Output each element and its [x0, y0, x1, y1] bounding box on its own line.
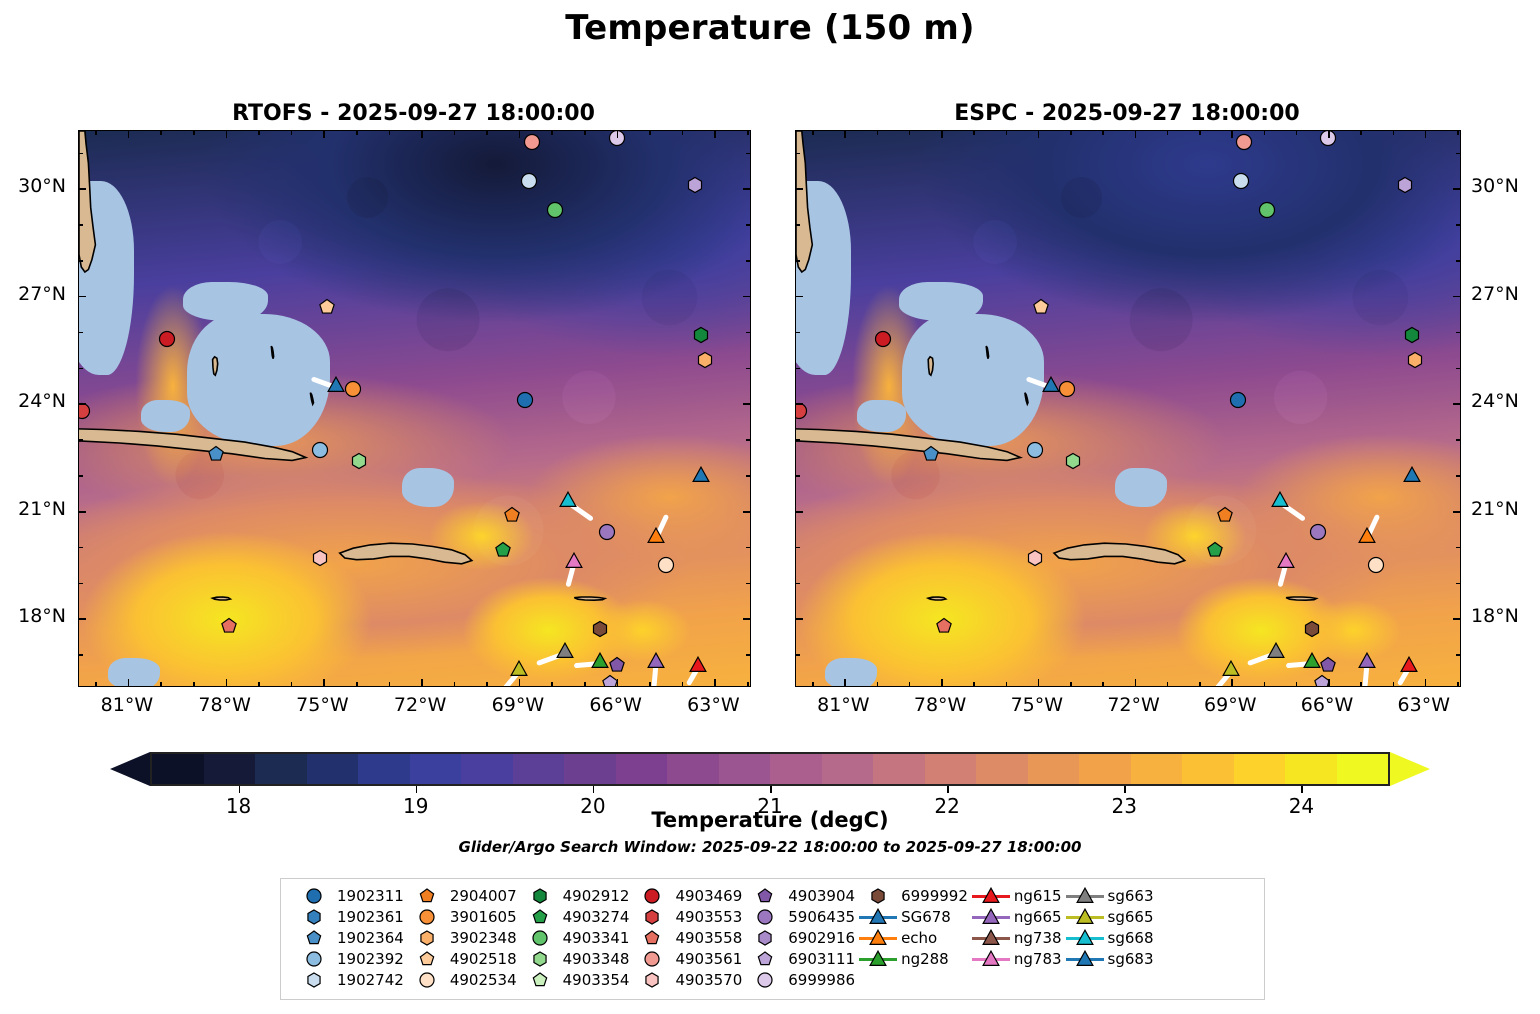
- lat-tick: [796, 511, 803, 513]
- map-marker-4902534[interactable]: [656, 555, 675, 574]
- map-marker-ng615[interactable]: [1399, 656, 1418, 675]
- lat-minor-tick: [796, 583, 800, 585]
- map-marker-4903341[interactable]: [545, 200, 564, 219]
- legend-label: 6999986: [788, 971, 855, 989]
- legend-label: 4902912: [563, 887, 630, 905]
- map-marker-sg663[interactable]: [1267, 641, 1286, 660]
- map-marker-sg663[interactable]: [555, 641, 574, 660]
- lat-tick-label: 27°N: [0, 283, 66, 305]
- lon-minor-tick: [1167, 682, 1169, 686]
- lat-minor-tick: [79, 475, 83, 477]
- map-marker-echo[interactable]: [646, 527, 665, 546]
- lat-tick: [79, 296, 86, 298]
- lat-minor-tick: [796, 332, 800, 334]
- map-marker-6999992[interactable]: [591, 620, 610, 639]
- lon-tick: [226, 679, 228, 686]
- lat-tick: [79, 188, 86, 190]
- lat-tick: [743, 296, 750, 298]
- legend-label: ng665: [1014, 908, 1062, 926]
- lon-minor-tick: [291, 682, 293, 686]
- legend-item-5906435[interactable]: 5906435: [742, 907, 855, 927]
- map-marker-4903558[interactable]: [219, 616, 238, 635]
- lon-tick-label: 72°W: [1089, 694, 1179, 716]
- legend-label: 4903570: [675, 971, 742, 989]
- map-marker-4903904b[interactable]: [607, 656, 626, 675]
- legend-item-4903561[interactable]: 4903561: [629, 949, 742, 969]
- lat-tick: [743, 511, 750, 513]
- lon-minor-tick: [1006, 131, 1008, 135]
- lat-minor-tick: [746, 475, 750, 477]
- legend-item-4903558[interactable]: 4903558: [629, 928, 742, 948]
- legend-item-sg663[interactable]: sg663: [1062, 886, 1154, 906]
- map-marker-1902392[interactable]: [1025, 441, 1044, 460]
- map-marker-1902742[interactable]: [1231, 172, 1250, 191]
- colorbar-label: Temperature (degC): [0, 808, 1540, 832]
- landmass-puerto-rico: [1286, 597, 1316, 600]
- lat-tick: [796, 618, 803, 620]
- map-marker-3902348[interactable]: [1406, 351, 1425, 370]
- lat-minor-tick: [79, 332, 83, 334]
- landmass-eleuthera: [271, 346, 273, 359]
- map-marker-echo[interactable]: [1357, 527, 1376, 546]
- legend-marker-icon: [742, 886, 788, 906]
- lat-minor-tick: [746, 332, 750, 334]
- legend-label: sg668: [1108, 929, 1154, 947]
- lon-tick: [1038, 679, 1040, 686]
- map-marker-4903469[interactable]: [157, 329, 176, 348]
- legend-marker-icon: [742, 970, 788, 990]
- legend: 1902311190236119023641902392190274229040…: [280, 878, 1265, 1000]
- map-marker-sg683[interactable]: [1402, 466, 1421, 485]
- map-marker-4903348[interactable]: [1064, 451, 1083, 470]
- legend-column: 19023111902361190236419023921902742: [291, 886, 404, 990]
- panel-title-espc: ESPC - 2025-09-27 18:00:00: [795, 101, 1459, 126]
- map-marker-4903558[interactable]: [935, 616, 954, 635]
- lon-minor-tick: [454, 131, 456, 135]
- legend-column: 49039045906435690291669031116999986: [742, 886, 855, 990]
- map-panel-espc[interactable]: [795, 130, 1461, 687]
- lat-minor-tick: [746, 654, 750, 656]
- legend-item-4902518[interactable]: 4902518: [404, 949, 517, 969]
- lon-minor-tick: [584, 682, 586, 686]
- map-marker-2904007[interactable]: [503, 505, 522, 524]
- legend-label: sg663: [1108, 887, 1154, 905]
- lon-minor-tick: [1457, 682, 1459, 686]
- map-marker-ng665[interactable]: [1357, 652, 1376, 671]
- legend-marker-icon: [291, 886, 337, 906]
- lon-tick: [1425, 131, 1427, 138]
- map-marker-1902311[interactable]: [516, 390, 535, 409]
- legend-marker-icon: [629, 907, 675, 927]
- legend-item-sg668[interactable]: sg668: [1062, 928, 1154, 948]
- legend-item-ng738[interactable]: ng738: [968, 928, 1062, 948]
- lon-minor-tick: [95, 131, 97, 135]
- legend-marker-icon: [1062, 949, 1108, 969]
- lat-tick-label: 30°N: [0, 175, 66, 197]
- search-window-caption: Glider/Argo Search Window: 2025-09-22 18…: [0, 838, 1540, 856]
- colorbar-gradient: [150, 752, 1390, 786]
- lon-tick: [1038, 131, 1040, 138]
- lat-minor-tick: [796, 547, 800, 549]
- legend-label: 1902392: [337, 950, 404, 968]
- lon-minor-tick: [649, 131, 651, 135]
- map-marker-ng615[interactable]: [689, 656, 708, 675]
- map-marker-1902742[interactable]: [519, 172, 538, 191]
- colorbar-tick: [593, 786, 595, 793]
- coastlines: [796, 131, 1457, 683]
- legend-marker-icon: [742, 928, 788, 948]
- legend-label: 4903341: [563, 929, 630, 947]
- colorbar-min-arrow: [110, 752, 150, 786]
- lon-tick: [1231, 131, 1233, 138]
- lat-minor-tick: [79, 654, 83, 656]
- lon-minor-tick: [682, 131, 684, 135]
- legend-label: 4903469: [675, 887, 742, 905]
- legend-item-1902364[interactable]: 1902364: [291, 928, 404, 948]
- map-marker-2904007[interactable]: [1215, 505, 1234, 524]
- map-marker-1902392[interactable]: [311, 441, 330, 460]
- legend-item-ng288[interactable]: ng288: [855, 949, 968, 969]
- lon-minor-tick: [1102, 682, 1104, 686]
- map-marker-4902534[interactable]: [1367, 555, 1386, 574]
- lon-minor-tick: [160, 682, 162, 686]
- lat-tick: [796, 188, 803, 190]
- legend-item-4903570[interactable]: 4903570: [629, 970, 742, 990]
- legend-label: 6999992: [901, 887, 968, 905]
- legend-item-4903553[interactable]: 4903553: [629, 907, 742, 927]
- legend-marker-icon: [291, 928, 337, 948]
- landmass-cuba: [79, 429, 306, 461]
- lon-tick-label: 69°W: [473, 694, 563, 716]
- map-marker-sg665[interactable]: [509, 659, 528, 678]
- legend-item-1902361[interactable]: 1902361: [291, 907, 404, 927]
- lat-minor-tick: [1456, 439, 1460, 441]
- lon-minor-tick: [551, 682, 553, 686]
- map-marker-4903904b[interactable]: [1319, 656, 1338, 675]
- lon-tick: [519, 131, 521, 138]
- legend-marker-icon: [742, 949, 788, 969]
- lon-tick: [617, 131, 619, 138]
- lon-minor-tick: [1199, 131, 1201, 135]
- legend-item-4902912[interactable]: 4902912: [517, 886, 630, 906]
- legend-label: ng738: [1014, 929, 1062, 947]
- lon-minor-tick: [973, 131, 975, 135]
- map-marker-4903561[interactable]: [1235, 132, 1254, 151]
- lat-tick: [743, 403, 750, 405]
- landmass-hispaniola: [340, 543, 472, 564]
- legend-item-1902392[interactable]: 1902392: [291, 949, 404, 969]
- legend-label: 4903904: [788, 887, 855, 905]
- legend-column: 49034694903553490355849035614903570: [629, 886, 742, 990]
- lat-minor-tick: [79, 153, 83, 155]
- lon-tick: [1328, 131, 1330, 138]
- legend-marker-icon: [517, 970, 563, 990]
- lat-minor-tick: [79, 368, 83, 370]
- legend-item-4903341[interactable]: 4903341: [517, 928, 630, 948]
- landmass-andros: [928, 357, 933, 375]
- legend-column: 49029124903274490334149033484903354: [517, 886, 630, 990]
- lon-minor-tick: [1006, 682, 1008, 686]
- map-marker-4903274[interactable]: [1206, 541, 1225, 560]
- legend-marker-icon: [855, 949, 901, 969]
- lat-minor-tick: [1456, 332, 1460, 334]
- lat-minor-tick: [1456, 153, 1460, 155]
- colorbar: 18192021222324: [110, 752, 1430, 786]
- legend-label: 4902518: [450, 950, 517, 968]
- legend-item-ng665[interactable]: ng665: [968, 907, 1062, 927]
- landmass-hispaniola: [1054, 543, 1185, 564]
- lon-minor-tick: [1070, 131, 1072, 135]
- lat-minor-tick: [1456, 260, 1460, 262]
- lat-tick-label: 24°N: [1471, 390, 1519, 412]
- lat-tick: [1453, 296, 1460, 298]
- legend-item-echo[interactable]: echo: [855, 928, 968, 948]
- lon-minor-tick: [389, 682, 391, 686]
- legend-item-sg683[interactable]: sg683: [1062, 949, 1154, 969]
- lon-tick: [714, 131, 716, 138]
- lat-minor-tick: [746, 224, 750, 226]
- colorbar-tick: [947, 786, 949, 793]
- lon-tick: [1231, 679, 1233, 686]
- panel-title-rtofs: RTOFS - 2025-09-27 18:00:00: [78, 101, 749, 126]
- lon-tick: [1425, 679, 1427, 686]
- map-marker-4903570[interactable]: [1025, 548, 1044, 567]
- map-marker-4903274[interactable]: [493, 541, 512, 560]
- legend-label: 6902916: [788, 929, 855, 947]
- lat-minor-tick: [746, 583, 750, 585]
- legend-label: ng615: [1014, 887, 1062, 905]
- legend-marker-icon: [629, 949, 675, 969]
- lon-tick: [1328, 679, 1330, 686]
- lat-tick: [79, 511, 86, 513]
- legend-marker-icon: [855, 886, 901, 906]
- lon-minor-tick: [1070, 682, 1072, 686]
- lat-minor-tick: [79, 583, 83, 585]
- map-marker-3902348[interactable]: [695, 351, 714, 370]
- colorbar-tick: [770, 786, 772, 793]
- legend-item-6902916[interactable]: 6902916: [742, 928, 855, 948]
- lon-minor-tick: [1264, 682, 1266, 686]
- lon-minor-tick: [193, 131, 195, 135]
- map-marker-sg668[interactable]: [558, 491, 577, 510]
- map-marker-6999992[interactable]: [1302, 620, 1321, 639]
- legend-item-6903111[interactable]: 6903111: [742, 949, 855, 969]
- legend-marker-icon: [517, 886, 563, 906]
- lon-tick: [941, 679, 943, 686]
- map-marker-4903469[interactable]: [874, 329, 893, 348]
- landmass-andros: [213, 357, 218, 375]
- lat-minor-tick: [1456, 547, 1460, 549]
- legend-item-ng783[interactable]: ng783: [968, 949, 1062, 969]
- lon-tick-label: 69°W: [1185, 694, 1275, 716]
- legend-marker-icon: [291, 970, 337, 990]
- legend-label: 4902534: [450, 971, 517, 989]
- lon-tick: [519, 679, 521, 686]
- legend-column: 29040073901605390234849025184902534: [404, 886, 517, 990]
- map-marker-4902518[interactable]: [1032, 297, 1051, 316]
- legend-marker-icon: [629, 886, 675, 906]
- lon-minor-tick: [584, 131, 586, 135]
- map-marker-4903561[interactable]: [522, 132, 541, 151]
- legend-label: ng288: [901, 950, 949, 968]
- legend-marker-icon: [968, 886, 1014, 906]
- landmass-long-island: [1025, 393, 1028, 405]
- lon-tick-label: 72°W: [375, 694, 465, 716]
- map-marker-ng665[interactable]: [646, 652, 665, 671]
- lon-minor-tick: [1167, 131, 1169, 135]
- legend-item-2904007[interactable]: 2904007: [404, 886, 517, 906]
- lon-minor-tick: [193, 682, 195, 686]
- lat-tick-label: 21°N: [1471, 498, 1519, 520]
- lat-minor-tick: [1456, 475, 1460, 477]
- legend-label: sg665: [1108, 908, 1154, 926]
- lat-tick: [1453, 188, 1460, 190]
- map-marker-3901605[interactable]: [1057, 380, 1076, 399]
- lon-tick: [941, 131, 943, 138]
- lat-tick-label: 27°N: [1471, 283, 1519, 305]
- lat-minor-tick: [796, 475, 800, 477]
- legend-marker-icon: [404, 928, 450, 948]
- lat-tick-label: 21°N: [0, 498, 66, 520]
- map-marker-4903348[interactable]: [350, 451, 369, 470]
- lon-minor-tick: [356, 131, 358, 135]
- legend-item-6999986[interactable]: 6999986: [742, 970, 855, 990]
- colorbar-max-arrow: [1390, 752, 1430, 786]
- legend-label: sg683: [1108, 950, 1154, 968]
- lon-minor-tick: [160, 131, 162, 135]
- map-marker-1902364[interactable]: [206, 444, 225, 463]
- map-marker-4902912[interactable]: [1402, 326, 1421, 345]
- map-marker-4903341[interactable]: [1257, 200, 1276, 219]
- legend-item-1902742[interactable]: 1902742: [291, 970, 404, 990]
- legend-item-4903354[interactable]: 4903354: [517, 970, 630, 990]
- landmass-jamaica: [213, 597, 231, 600]
- lat-minor-tick: [1456, 224, 1460, 226]
- map-marker-sg668[interactable]: [1270, 491, 1289, 510]
- legend-marker-icon: [968, 928, 1014, 948]
- legend-item-6999992[interactable]: 6999992: [855, 886, 968, 906]
- lat-minor-tick: [746, 260, 750, 262]
- legend-item-4903348[interactable]: 4903348: [517, 949, 630, 969]
- map-marker-4903904[interactable]: [1396, 175, 1415, 194]
- map-marker-4902518[interactable]: [317, 297, 336, 316]
- legend-item-SG678[interactable]: SG678: [855, 907, 968, 927]
- map-marker-sg683[interactable]: [692, 466, 711, 485]
- lat-minor-tick: [746, 439, 750, 441]
- lon-minor-tick: [1102, 131, 1104, 135]
- lon-minor-tick: [877, 131, 879, 135]
- map-marker-1902364[interactable]: [922, 444, 941, 463]
- lon-tick: [617, 679, 619, 686]
- map-marker-3901605[interactable]: [343, 380, 362, 399]
- lon-tick: [421, 131, 423, 138]
- legend-item-ng615[interactable]: ng615: [968, 886, 1062, 906]
- lon-minor-tick: [551, 131, 553, 135]
- lon-tick: [323, 131, 325, 138]
- legend-marker-icon: [968, 907, 1014, 927]
- lon-tick-label: 75°W: [992, 694, 1082, 716]
- legend-item-4902534[interactable]: 4902534: [404, 970, 517, 990]
- map-marker-ng783[interactable]: [565, 552, 584, 571]
- map-marker-5906435[interactable]: [1309, 523, 1328, 542]
- legend-marker-icon: [404, 949, 450, 969]
- legend-item-sg665[interactable]: sg665: [1062, 907, 1154, 927]
- lon-minor-tick: [1393, 131, 1395, 135]
- landmass-eleuthera: [986, 346, 988, 359]
- map-marker-4903904[interactable]: [685, 175, 704, 194]
- map-marker-sg665[interactable]: [1222, 659, 1241, 678]
- lat-tick-label: 30°N: [1471, 175, 1519, 197]
- lon-tick: [421, 679, 423, 686]
- map-marker-1902311[interactable]: [1228, 390, 1247, 409]
- legend-item-3901605[interactable]: 3901605: [404, 907, 517, 927]
- lon-minor-tick: [747, 131, 749, 135]
- map-marker-5906435[interactable]: [597, 523, 616, 542]
- lon-tick-label: 63°W: [1379, 694, 1469, 716]
- lat-tick: [1453, 618, 1460, 620]
- lat-tick: [796, 403, 803, 405]
- lon-minor-tick: [486, 682, 488, 686]
- legend-column: sg663sg665sg668sg683: [1062, 886, 1154, 990]
- legend-marker-icon: [404, 970, 450, 990]
- lon-minor-tick: [258, 131, 260, 135]
- lon-tick-label: 63°W: [668, 694, 758, 716]
- legend-marker-icon: [1062, 907, 1108, 927]
- legend-item-4903274[interactable]: 4903274: [517, 907, 630, 927]
- legend-item-4903469[interactable]: 4903469: [629, 886, 742, 906]
- lat-minor-tick: [746, 368, 750, 370]
- lat-tick: [1453, 403, 1460, 405]
- lon-minor-tick: [1360, 131, 1362, 135]
- legend-item-4903904[interactable]: 4903904: [742, 886, 855, 906]
- lat-minor-tick: [796, 654, 800, 656]
- legend-marker-icon: [1062, 928, 1108, 948]
- legend-label: echo: [901, 929, 937, 947]
- lon-minor-tick: [291, 131, 293, 135]
- lat-tick-label: 18°N: [1471, 605, 1519, 627]
- legend-column: 6999992SG678echong288: [855, 886, 968, 990]
- lat-minor-tick: [796, 224, 800, 226]
- lon-minor-tick: [812, 131, 814, 135]
- legend-item-1902311[interactable]: 1902311: [291, 886, 404, 906]
- map-marker-4902912[interactable]: [692, 326, 711, 345]
- map-marker-4903570[interactable]: [311, 548, 330, 567]
- landmass-long-island: [310, 393, 313, 405]
- map-panel-rtofs[interactable]: [78, 130, 751, 687]
- lat-minor-tick: [746, 153, 750, 155]
- lat-minor-tick: [796, 153, 800, 155]
- lat-minor-tick: [1456, 654, 1460, 656]
- lon-tick-label: 75°W: [277, 694, 367, 716]
- coastlines: [79, 131, 747, 683]
- legend-label: 2904007: [450, 887, 517, 905]
- lon-tick: [714, 679, 716, 686]
- lon-tick: [128, 131, 130, 138]
- lat-tick: [1453, 511, 1460, 513]
- legend-marker-icon: [517, 907, 563, 927]
- legend-marker-icon: [517, 928, 563, 948]
- legend-marker-icon: [404, 907, 450, 927]
- legend-column: ng615ng665ng738ng783: [968, 886, 1062, 990]
- lat-minor-tick: [1456, 368, 1460, 370]
- lon-tick: [1135, 679, 1137, 686]
- legend-item-3902348[interactable]: 3902348: [404, 928, 517, 948]
- lat-tick: [79, 403, 86, 405]
- map-marker-ng783[interactable]: [1277, 552, 1296, 571]
- lat-minor-tick: [796, 368, 800, 370]
- lon-minor-tick: [1360, 682, 1362, 686]
- legend-label: 3902348: [450, 929, 517, 947]
